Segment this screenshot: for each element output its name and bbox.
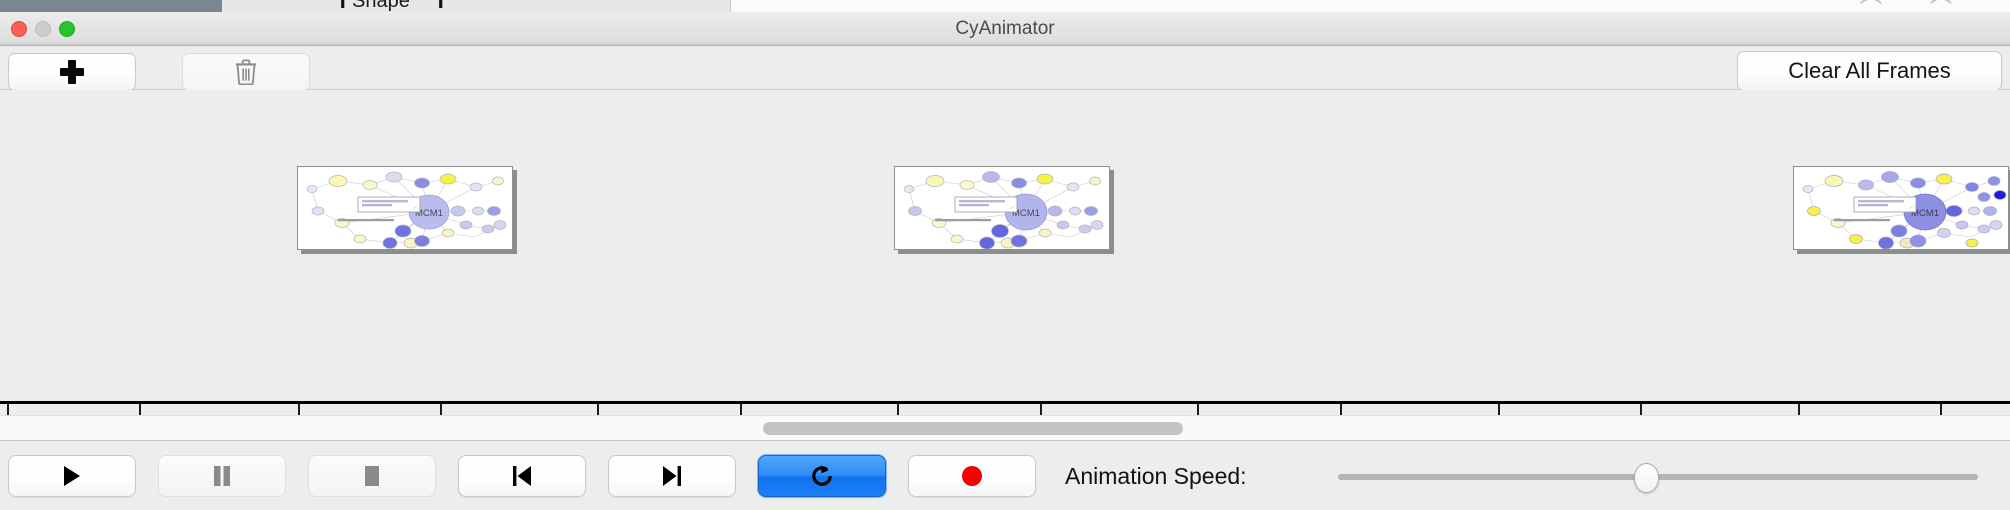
axis-tick-major xyxy=(7,404,9,415)
skip-forward-icon xyxy=(660,464,684,488)
timeline-axis-line xyxy=(0,401,2010,404)
next-frame-button[interactable] xyxy=(608,455,736,497)
loop-icon xyxy=(809,463,835,489)
background-dark-block xyxy=(0,0,222,12)
background-tab xyxy=(404,0,491,12)
axis-tick-major xyxy=(1798,404,1800,415)
axis-tick-major xyxy=(897,404,899,415)
axis-tick-minor xyxy=(740,404,742,415)
scrollbar-thumb[interactable] xyxy=(763,422,1183,435)
title-bar[interactable]: CyAnimator xyxy=(0,12,2010,46)
clear-all-frames-label: Clear All Frames xyxy=(1788,58,1951,84)
skip-back-icon xyxy=(510,464,534,488)
timeline-panel[interactable]: MCM1 xyxy=(0,90,2010,415)
play-icon xyxy=(61,464,83,488)
axis-tick-minor xyxy=(1940,404,1942,415)
window-title: CyAnimator xyxy=(0,12,2010,46)
axis-tick-minor xyxy=(1040,404,1042,415)
axis-tick-major xyxy=(1197,404,1199,415)
pause-icon xyxy=(211,464,233,488)
axis-tick-minor xyxy=(1640,404,1642,415)
add-frame-button[interactable] xyxy=(8,53,136,91)
timeline-scrollbar[interactable] xyxy=(0,415,2010,441)
delete-frame-button[interactable] xyxy=(182,53,310,91)
playback-control-bar: Animation Speed: xyxy=(0,442,2010,510)
cyanimator-window: T T Shape ⌒ ⌒ CyAnimator xyxy=(0,0,2010,510)
background-tab xyxy=(490,0,601,12)
axis-tick-major xyxy=(298,404,300,415)
clear-all-frames-button[interactable]: Clear All Frames xyxy=(1737,51,2002,91)
background-glyph-t: T xyxy=(434,0,447,12)
play-button[interactable] xyxy=(8,455,136,497)
timeline-frame-thumbnail[interactable]: MCM1 xyxy=(297,166,513,250)
record-icon xyxy=(960,464,984,488)
axis-tick-major xyxy=(1498,404,1500,415)
background-window-strip: T T Shape ⌒ ⌒ xyxy=(0,0,2010,12)
trash-icon xyxy=(235,59,257,85)
background-tab xyxy=(600,0,731,12)
animation-speed-label: Animation Speed: xyxy=(1065,455,1247,497)
pause-button[interactable] xyxy=(158,455,286,497)
background-window-word: Shape xyxy=(352,0,410,12)
toolbar: Clear All Frames xyxy=(0,46,2010,90)
animation-speed-slider-knob[interactable] xyxy=(1634,463,1659,493)
axis-tick-minor xyxy=(1340,404,1342,415)
background-curve: ⌒ xyxy=(1860,0,1882,12)
timeline-frame-thumbnail[interactable]: MCM1 xyxy=(1793,166,2009,250)
background-curve: ⌒ xyxy=(1930,0,1952,12)
timeline-frame-thumbnail[interactable]: MCM1 xyxy=(894,166,1110,250)
plus-icon xyxy=(59,59,85,85)
background-tab xyxy=(222,0,313,12)
stop-button[interactable] xyxy=(308,455,436,497)
axis-tick-major xyxy=(597,404,599,415)
axis-tick-minor xyxy=(440,404,442,415)
stop-icon xyxy=(361,464,383,488)
record-button[interactable] xyxy=(908,455,1036,497)
background-glyph-t: T xyxy=(336,0,349,12)
loop-button[interactable] xyxy=(758,455,886,497)
axis-tick-minor xyxy=(139,404,141,415)
previous-frame-button[interactable] xyxy=(458,455,586,497)
